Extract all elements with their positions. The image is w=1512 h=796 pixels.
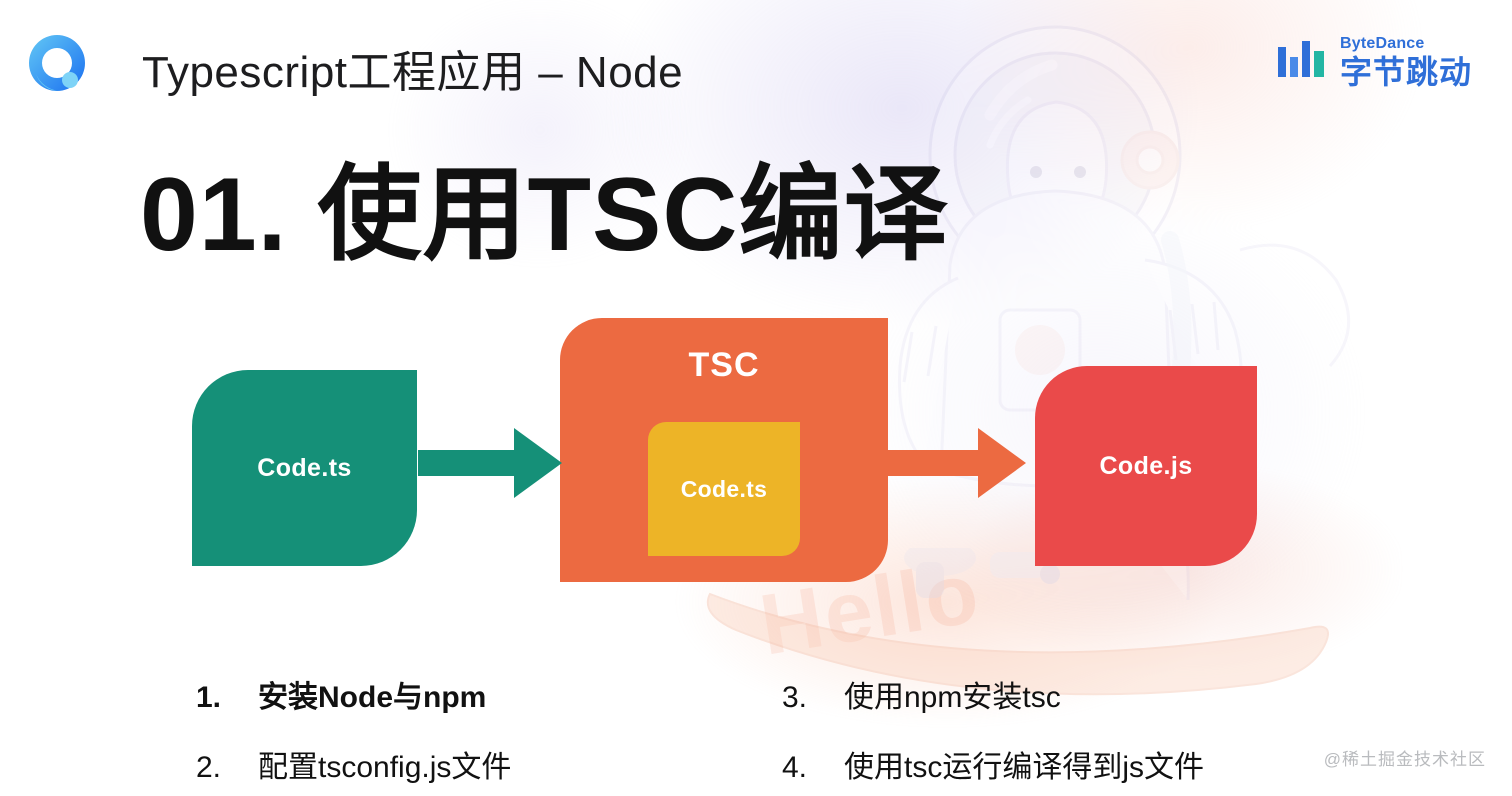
diagram-node-source: Code.ts (192, 370, 417, 566)
watermark-label: @稀土掘金技术社区 (1324, 745, 1486, 770)
steps-column-right: 3. 使用npm安装tsc 4. 使用tsc运行编译得到js文件 (782, 672, 1402, 796)
page-title: Typescript工程应用 – Node (142, 36, 683, 100)
compile-flow-diagram: Code.ts TSC Code.ts Code.js (0, 318, 1512, 588)
diagram-node-output: Code.js (1035, 366, 1257, 566)
list-item-number: 2. (196, 751, 258, 785)
list-item-label: 安装Node与npm (258, 672, 486, 716)
diagram-node-source-label: Code.ts (257, 454, 351, 483)
list-item-label: 配置tsconfig.js文件 (258, 742, 511, 786)
list-item-label: 使用npm安装tsc (844, 672, 1061, 716)
list-item: 1. 安装Node与npm (196, 672, 756, 716)
diagram-node-output-label: Code.js (1099, 452, 1192, 481)
diagram-node-compiler-inner: Code.ts (648, 422, 800, 556)
list-item: 3. 使用npm安装tsc (782, 672, 1402, 716)
steps-column-left: 1. 安装Node与npm 2. 配置tsconfig.js文件 (196, 672, 756, 796)
list-item: 4. 使用tsc运行编译得到js文件 (782, 742, 1402, 786)
list-item-number: 3. (782, 681, 844, 715)
section-heading: 01. 使用TSC编译 (140, 158, 948, 272)
slide-header: Typescript工程应用 – Node ByteDance 字节跳动 (0, 0, 1512, 130)
juejin-circle-logo-icon (26, 32, 88, 94)
bytedance-chinese-label: 字节跳动 (1340, 56, 1472, 88)
bytedance-logo: ByteDance 字节跳动 (1276, 36, 1472, 88)
list-item-number: 1. (196, 681, 258, 715)
arrow-right-icon-right (880, 424, 1028, 502)
list-item: 2. 配置tsconfig.js文件 (196, 742, 756, 786)
bytedance-bars-icon (1276, 39, 1330, 85)
slide-canvas: Hello (0, 0, 1512, 796)
list-item-label: 使用tsc运行编译得到js文件 (844, 742, 1204, 786)
list-item-number: 4. (782, 751, 844, 785)
diagram-node-compiler-label: TSC (560, 346, 888, 385)
arrow-right-icon-left (418, 424, 564, 502)
bytedance-english-label: ByteDance (1340, 36, 1472, 52)
diagram-node-compiler: TSC Code.ts (560, 318, 888, 582)
